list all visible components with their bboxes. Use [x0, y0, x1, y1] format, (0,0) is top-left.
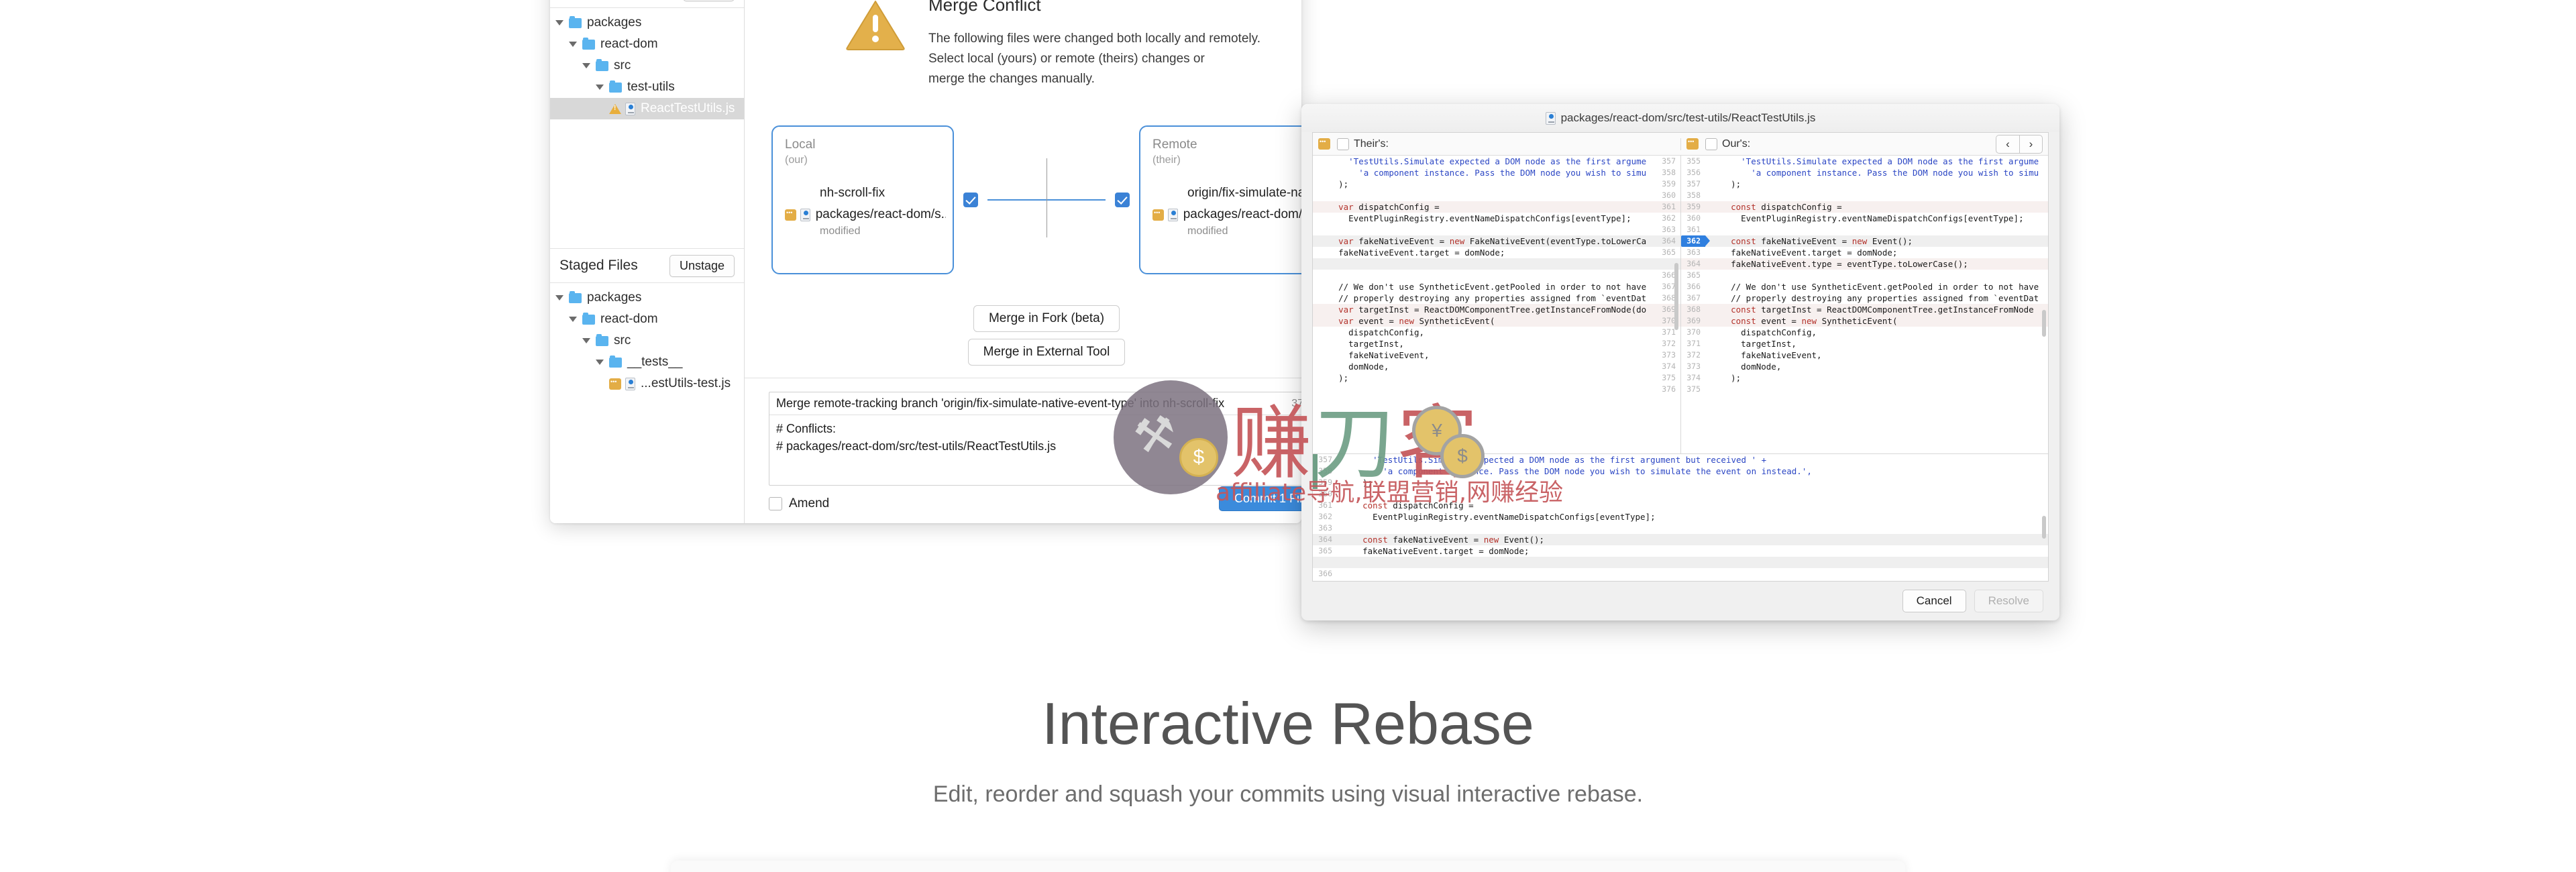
code-text: const targetInst = ReactDOMComponentTree… [1705, 304, 2048, 315]
remote-file-status: modified [1187, 225, 1301, 237]
merged-result-code: 357 'TestUtils.Simulate expected a DOM n… [1313, 454, 2048, 580]
folder-icon [582, 315, 595, 325]
code-line[interactable]: 359 ); [1313, 477, 2048, 488]
folder-icon [596, 61, 608, 71]
code-text: // properly destroying any properties as… [1705, 292, 2048, 304]
code-text: EventPluginRegistry.eventNameDispatchCon… [1337, 511, 2048, 523]
file-tree-row[interactable]: ReactTestUtils.js [550, 98, 744, 119]
line-number: 359 [1656, 178, 1680, 190]
code-text [1313, 224, 1656, 235]
file-tree-label: react-dom [600, 37, 658, 52]
code-line[interactable]: 373 fakeNativeEvent, [1313, 349, 1680, 361]
line-number: 373 [1681, 361, 1705, 372]
file-tree-label: src [614, 333, 631, 348]
conflict-desc-line1: The following files were changed both lo… [928, 29, 1260, 49]
line-number: 361 [1656, 201, 1680, 213]
file-tree-row[interactable]: test-utils [550, 76, 744, 98]
js-file-icon [625, 378, 635, 390]
conflict-title: Merge Conflict [928, 0, 1260, 15]
merge-editor-subbar: Their's: Our's: ‹ › [1313, 133, 2048, 156]
code-text [1705, 270, 2048, 281]
chevron-down-icon[interactable] [596, 85, 604, 90]
code-line[interactable]: 369 const event = new SyntheticEvent( [1681, 315, 2048, 327]
code-text [1313, 270, 1656, 281]
chunk-icon [1318, 138, 1330, 150]
screenshot-stage: Unstaged Files Stage packagesreact-domsr… [0, 0, 2576, 872]
ours-code-pane[interactable]: 355 'TestUtils.Simulate expected a DOM n… [1680, 156, 2048, 453]
file-tree-row[interactable]: packages [550, 287, 744, 309]
line-number [1313, 557, 1337, 568]
code-text: ); [1705, 372, 2048, 384]
file-tree-row[interactable]: ...estUtils-test.js [550, 373, 744, 394]
code-line[interactable]: 357 'TestUtils.Simulate expected a DOM n… [1313, 156, 1680, 167]
code-line[interactable]: 358 [1681, 190, 2048, 201]
connector-line-left [987, 199, 1046, 201]
ours-header: Our's: [1680, 138, 2048, 150]
cancel-button[interactable]: Cancel [1902, 590, 1966, 612]
code-text: 'a component instance. Pass the DOM node… [1313, 167, 1656, 178]
code-line[interactable] [1313, 258, 1680, 270]
code-line[interactable]: 360 [1313, 488, 2048, 500]
theirs-checkbox[interactable] [1337, 138, 1349, 150]
merge-editor-panes: 357 'TestUtils.Simulate expected a DOM n… [1313, 156, 2048, 453]
line-number: 365 [1313, 545, 1337, 557]
code-line[interactable]: 364 const fakeNativeEvent = new Event(); [1313, 534, 2048, 545]
code-line[interactable]: 355 'TestUtils.Simulate expected a DOM n… [1681, 156, 2048, 167]
chunk-icon [1686, 138, 1699, 150]
line-number: 366 [1681, 281, 1705, 292]
code-text: fakeNativeEvent, [1313, 349, 1656, 361]
code-text: var event = new SyntheticEvent( [1313, 315, 1656, 327]
resolve-button: Resolve [1974, 590, 2043, 612]
ours-label: Our's: [1722, 138, 1750, 150]
code-text: fakeNativeEvent.target = domNode; [1337, 545, 2048, 557]
commit-message-box[interactable]: Merge remote-tracking branch 'origin/fix… [769, 392, 1301, 486]
local-branch-card: Local (our) nh-scroll-fix packages/react… [771, 125, 954, 274]
commit-subject-text: Merge remote-tracking branch 'origin/fix… [776, 396, 1224, 411]
code-text: fakeNativeEvent.target = domNode; [1313, 247, 1656, 258]
line-number: 361 [1681, 224, 1705, 235]
code-line[interactable]: 366 [1313, 568, 2048, 580]
line-number: 373 [1656, 349, 1680, 361]
code-line[interactable]: 372 targetInst, [1313, 338, 1680, 349]
file-tree-label: __tests__ [627, 355, 682, 370]
commit-button[interactable]: Commit 1 File [1219, 486, 1301, 511]
conflict-header: Merge Conflict The following files were … [771, 0, 1301, 89]
line-number: 358 [1681, 190, 1705, 201]
unstaged-files-header: Unstaged Files Stage [550, 0, 744, 8]
line-number: 364 [1656, 235, 1680, 247]
unstage-button[interactable]: Unstage [669, 255, 735, 277]
next-conflict-button[interactable]: › [2019, 135, 2042, 153]
remote-branch-card: Remote (their) origin/fix-simulate-na...… [1139, 125, 1301, 274]
remote-branch-name: origin/fix-simulate-na... [1187, 186, 1301, 201]
code-text: 'TestUtils.Simulate expected a DOM node … [1313, 156, 1656, 167]
file-tree-label: packages [587, 290, 641, 305]
chevron-down-icon[interactable] [555, 20, 563, 25]
ours-code: 355 'TestUtils.Simulate expected a DOM n… [1681, 156, 2048, 395]
theirs-header: Their's: [1313, 138, 1680, 150]
folder-icon [569, 18, 582, 28]
code-text: var targetInst = ReactDOMComponentTree.g… [1313, 304, 1656, 315]
code-text: ); [1705, 178, 2048, 190]
theirs-label: Their's: [1354, 138, 1389, 150]
merge-in-fork-button[interactable]: Merge in Fork (beta) [973, 305, 1120, 332]
prev-conflict-button[interactable]: ‹ [1996, 135, 2019, 153]
code-line[interactable] [1313, 557, 2048, 568]
code-text [1337, 488, 2048, 500]
merge-editor-body: Their's: Our's: ‹ › 357 'Te [1312, 132, 2049, 582]
line-number: 357 [1656, 156, 1680, 167]
line-number: 357 [1681, 178, 1705, 190]
bottom-partial-window [671, 861, 1905, 872]
merge-in-external-tool-button[interactable]: Merge in External Tool [968, 339, 1126, 366]
code-line[interactable]: 367 // We don't use SyntheticEvent.getPo… [1313, 281, 1680, 292]
chunk-icon [609, 378, 621, 390]
line-number: 355 [1681, 156, 1705, 167]
code-line[interactable]: 364 fakeNativeEvent.type = eventType.toL… [1681, 258, 2048, 270]
code-line[interactable]: 358 'a component instance. Pass the DOM … [1313, 167, 1680, 178]
code-line[interactable]: 365 fakeNativeEvent.target = domNode; [1313, 247, 1680, 258]
line-number: 375 [1681, 384, 1705, 395]
commit-subject-count: 37 [1291, 398, 1301, 410]
code-text: // properly destroying any properties as… [1313, 292, 1656, 304]
file-tree-label: packages [587, 15, 641, 30]
commit-body-line2: # packages/react-dom/src/test-utils/Reac… [776, 437, 1301, 455]
line-number: 369 [1681, 315, 1705, 327]
code-line[interactable]: 360 EventPluginRegistry.eventNameDispatc… [1681, 213, 2048, 224]
js-file-icon [800, 209, 810, 221]
chevron-down-icon[interactable] [569, 317, 577, 322]
file-tree-row[interactable]: src [550, 330, 744, 351]
local-card-label: Local [785, 138, 941, 153]
code-line[interactable]: 356 'a component instance. Pass the DOM … [1681, 167, 2048, 178]
warning-icon [609, 103, 621, 114]
folder-icon [609, 83, 622, 93]
line-number: 363 [1313, 523, 1337, 534]
chevron-down-icon[interactable] [582, 338, 590, 343]
code-text [1337, 557, 2048, 568]
line-number: 371 [1681, 338, 1705, 349]
line-number: 359 [1681, 201, 1705, 213]
commit-area: Merge remote-tracking branch 'origin/fix… [745, 378, 1301, 523]
code-text: const dispatchConfig = [1705, 201, 2048, 213]
stage-button[interactable]: Stage [683, 0, 735, 1]
local-file-path: packages/react-dom/s... [816, 207, 946, 222]
merged-result-pane[interactable]: 357 'TestUtils.Simulate expected a DOM n… [1313, 453, 2048, 581]
resolved-marker-bar [1313, 454, 1318, 489]
code-line[interactable]: 363 [1313, 523, 2048, 534]
code-line[interactable]: 368 const targetInst = ReactDOMComponent… [1681, 304, 2048, 315]
folder-icon [569, 293, 582, 303]
chevron-down-icon[interactable] [569, 42, 577, 47]
code-text [1313, 190, 1656, 201]
line-number: 363 [1681, 247, 1705, 258]
line-number: 368 [1681, 304, 1705, 315]
remote-card-label: Remote [1152, 138, 1301, 153]
code-text: ); [1337, 477, 2048, 488]
hero-title: Interactive Rebase [0, 694, 2576, 753]
code-text: // We don't use SyntheticEvent.getPooled… [1705, 281, 2048, 292]
line-number: 362 [1313, 511, 1337, 523]
code-text [1705, 384, 2048, 395]
code-line[interactable]: 373 domNode, [1681, 361, 2048, 372]
code-line[interactable]: 361 [1681, 224, 2048, 235]
connector-line-right [1046, 199, 1106, 201]
code-text: dispatchConfig, [1313, 327, 1656, 338]
code-text: const event = new SyntheticEvent( [1705, 315, 2048, 327]
line-number: 356 [1681, 167, 1705, 178]
code-line[interactable]: 362 EventPluginRegistry.eventNameDispatc… [1313, 213, 1680, 224]
warning-triangle-icon [845, 0, 906, 51]
remote-file-row: packages/react-dom/s... [1152, 207, 1301, 222]
code-text [1705, 224, 2048, 235]
line-number: 362 [1656, 213, 1680, 224]
code-text: fakeNativeEvent.type = eventType.toLower… [1705, 258, 2048, 270]
code-text [1313, 384, 1656, 395]
code-text: 'a component instance. Pass the DOM node… [1337, 466, 2048, 477]
code-text: domNode, [1313, 361, 1656, 372]
theirs-scrollbar-thumb[interactable] [1674, 263, 1678, 330]
file-tree-row[interactable]: src [550, 55, 744, 76]
code-text: // We don't use SyntheticEvent.getPooled… [1313, 281, 1656, 292]
code-text: targetInst, [1313, 338, 1656, 349]
code-text: targetInst, [1705, 338, 2048, 349]
code-line[interactable]: 364 var fakeNativeEvent = new FakeNative… [1313, 235, 1680, 247]
code-text: var fakeNativeEvent = new FakeNativeEven… [1313, 235, 1656, 247]
code-text: fakeNativeEvent.target = domNode; [1705, 247, 2048, 258]
code-line[interactable]: 376 [1313, 384, 1680, 395]
conflict-text-block: Merge Conflict The following files were … [928, 0, 1260, 89]
code-line[interactable]: 365 fakeNativeEvent.target = domNode; [1313, 545, 2048, 557]
merge-action-buttons: Merge in Fork (beta) Merge in External T… [771, 305, 1301, 366]
code-line[interactable]: 359 ); [1313, 178, 1680, 190]
code-text: EventPluginRegistry.eventNameDispatchCon… [1705, 213, 2048, 224]
amend-label: Amend [789, 496, 829, 511]
js-file-icon [625, 103, 635, 115]
code-line[interactable]: 370 dispatchConfig, [1681, 327, 2048, 338]
branch-comparison-row: Local (our) nh-scroll-fix packages/react… [771, 125, 1301, 274]
commit-body[interactable]: # Conflicts: # packages/react-dom/src/te… [769, 415, 1301, 459]
code-line[interactable]: 370 var event = new SyntheticEvent( [1313, 315, 1680, 327]
result-scrollbar-thumb[interactable] [2042, 516, 2046, 539]
conflict-description: The following files were changed both lo… [928, 29, 1260, 89]
line-number: 364 [1681, 258, 1705, 270]
file-tree-row[interactable]: __tests__ [550, 351, 744, 373]
local-branch-name: nh-scroll-fix [820, 186, 946, 201]
files-sidebar: Unstaged Files Stage packagesreact-domsr… [550, 0, 745, 523]
remote-select-checkbox[interactable] [1115, 193, 1130, 207]
folder-icon [582, 40, 595, 50]
theirs-code-pane[interactable]: 357 'TestUtils.Simulate expected a DOM n… [1313, 156, 1680, 453]
code-line[interactable]: 361 const dispatchConfig = [1313, 500, 2048, 511]
line-number: 376 [1656, 384, 1680, 395]
staged-files-title: Staged Files [559, 258, 638, 274]
line-number: 362 [1681, 235, 1705, 247]
code-text: fakeNativeEvent, [1705, 349, 2048, 361]
file-tree-label: test-utils [627, 80, 675, 95]
js-file-icon [1168, 209, 1177, 221]
line-number: 366 [1313, 568, 1337, 580]
fork-main-window: Unstaged Files Stage packagesreact-domsr… [550, 0, 1301, 523]
line-number: 374 [1656, 361, 1680, 372]
file-tree-label: react-dom [600, 312, 658, 327]
merge-conflict-area: Merge Conflict The following files were … [745, 0, 1301, 378]
merge-editor-file-path: packages/react-dom/src/test-utils/ReactT… [1561, 111, 1816, 125]
conflict-desc-line3: merge the changes manually. [928, 69, 1260, 89]
code-line[interactable]: 374 domNode, [1313, 361, 1680, 372]
chevron-down-icon[interactable] [555, 295, 563, 301]
line-number: 365 [1656, 247, 1680, 258]
code-line[interactable]: 366 [1313, 270, 1680, 281]
commit-body-line1: # Conflicts: [776, 420, 1301, 437]
hero-subtitle: Edit, reorder and squash your commits us… [0, 781, 2576, 808]
chunk-icon [1152, 209, 1164, 221]
line-number: 361 [1313, 500, 1337, 511]
ours-label-group[interactable]: Our's: [1703, 138, 1750, 150]
staged-file-tree[interactable]: packagesreact-domsrc__tests__...estUtils… [550, 283, 744, 523]
code-line[interactable]: 359 const dispatchConfig = [1681, 201, 2048, 213]
conflict-desc-line2: Select local (yours) or remote (theirs) … [928, 49, 1260, 69]
code-line[interactable]: 362 EventPluginRegistry.eventNameDispatc… [1313, 511, 2048, 523]
code-text: ); [1313, 372, 1656, 384]
file-tree-label: ReactTestUtils.js [641, 101, 735, 116]
line-number: 370 [1681, 327, 1705, 338]
code-text [1337, 568, 2048, 580]
line-number: 375 [1656, 372, 1680, 384]
code-text: 'TestUtils.Simulate expected a DOM node … [1337, 454, 2048, 466]
conflict-navigation-buttons: ‹ › [1996, 135, 2043, 154]
code-line[interactable]: 372 fakeNativeEvent, [1681, 349, 2048, 361]
code-line[interactable]: 371 dispatchConfig, [1313, 327, 1680, 338]
line-number: 360 [1656, 190, 1680, 201]
file-tree-label: ...estUtils-test.js [641, 376, 731, 391]
code-text [1313, 258, 1656, 270]
code-text: ); [1313, 178, 1656, 190]
code-text [1337, 523, 2048, 534]
file-tree-row[interactable]: react-dom [550, 309, 744, 330]
connector-vertical-line [1046, 158, 1047, 237]
remote-file-path: packages/react-dom/s... [1183, 207, 1301, 222]
staged-files-header: Staged Files Unstage [550, 248, 744, 283]
code-text: dispatchConfig, [1705, 327, 2048, 338]
remote-card-info: origin/fix-simulate-na... packages/react… [1152, 186, 1301, 237]
code-line[interactable]: 363 [1313, 224, 1680, 235]
local-select-checkbox[interactable] [963, 193, 978, 207]
folder-icon [609, 358, 622, 368]
unstaged-file-tree[interactable]: packagesreact-domsrctest-utilsReactTestU… [550, 8, 744, 248]
code-line[interactable]: 360 [1313, 190, 1680, 201]
code-line[interactable]: 374 ); [1681, 372, 2048, 384]
line-number: 367 [1681, 292, 1705, 304]
line-number: 360 [1681, 213, 1705, 224]
line-number: 374 [1681, 372, 1705, 384]
local-file-status: modified [820, 225, 946, 237]
merge-editor-footer: Cancel Resolve [1301, 582, 2059, 620]
js-file-icon [1546, 112, 1556, 125]
code-line[interactable]: 361 var dispatchConfig = [1313, 201, 1680, 213]
code-line[interactable]: 368 // properly destroying any propertie… [1313, 292, 1680, 304]
file-tree-row[interactable]: packages [550, 12, 744, 34]
remote-card-sublabel: (their) [1152, 154, 1301, 166]
code-text: 'TestUtils.Simulate expected a DOM node … [1705, 156, 2048, 167]
amend-checkbox[interactable] [769, 497, 782, 510]
ours-checkbox[interactable] [1705, 138, 1717, 150]
local-file-row: packages/react-dom/s... [785, 207, 946, 222]
code-line[interactable]: 375 ); [1313, 372, 1680, 384]
code-line[interactable]: 358 'a component instance. Pass the DOM … [1313, 466, 2048, 477]
code-text [1705, 190, 2048, 201]
line-number: 360 [1313, 488, 1337, 500]
code-text: domNode, [1705, 361, 2048, 372]
code-line[interactable]: 362 const fakeNativeEvent = new Event(); [1681, 235, 2048, 247]
code-line[interactable]: 366 // We don't use SyntheticEvent.getPo… [1681, 281, 2048, 292]
local-card-sublabel: (our) [785, 154, 941, 166]
line-number: 358 [1656, 167, 1680, 178]
code-line[interactable]: 357 ); [1681, 178, 2048, 190]
file-tree-label: src [614, 58, 631, 73]
merge-editor-window: packages/react-dom/src/test-utils/ReactT… [1301, 104, 2059, 620]
code-text: var dispatchConfig = [1313, 201, 1656, 213]
code-line[interactable]: 365 [1681, 270, 2048, 281]
ours-scrollbar-thumb[interactable] [2042, 310, 2046, 337]
chevron-down-icon[interactable] [596, 360, 604, 365]
code-text: const dispatchConfig = [1337, 500, 2048, 511]
conflict-main-panel: Merge Conflict The following files were … [745, 0, 1301, 523]
code-line[interactable]: 357 'TestUtils.Simulate expected a DOM n… [1313, 454, 2048, 466]
merge-editor-titlebar: packages/react-dom/src/test-utils/ReactT… [1301, 104, 2059, 132]
line-number: 372 [1681, 349, 1705, 361]
chunk-icon [785, 209, 796, 221]
code-text: const fakeNativeEvent = new Event(); [1337, 534, 2048, 545]
code-text: 'a component instance. Pass the DOM node… [1705, 167, 2048, 178]
theirs-code: 357 'TestUtils.Simulate expected a DOM n… [1313, 156, 1680, 395]
chevron-down-icon[interactable] [582, 63, 590, 68]
code-line[interactable]: 375 [1681, 384, 2048, 395]
code-line[interactable]: 371 targetInst, [1681, 338, 2048, 349]
folder-icon [596, 336, 608, 346]
hero-section: Interactive Rebase Edit, reorder and squ… [0, 694, 2576, 808]
line-number: 365 [1681, 270, 1705, 281]
theirs-label-group[interactable]: Their's: [1334, 138, 1389, 150]
code-text: const fakeNativeEvent = new Event(); [1705, 235, 2048, 247]
code-text: EventPluginRegistry.eventNameDispatchCon… [1313, 213, 1656, 224]
line-number: 363 [1656, 224, 1680, 235]
local-card-info: nh-scroll-fix packages/react-dom/s... mo… [785, 186, 946, 237]
commit-subject-row[interactable]: Merge remote-tracking branch 'origin/fix… [769, 392, 1301, 415]
code-line[interactable]: 367 // properly destroying any propertie… [1681, 292, 2048, 304]
line-number: 364 [1313, 534, 1337, 545]
code-line[interactable]: 363 fakeNativeEvent.target = domNode; [1681, 247, 2048, 258]
line-number: 372 [1656, 338, 1680, 349]
code-line[interactable]: 369 var targetInst = ReactDOMComponentTr… [1313, 304, 1680, 315]
file-tree-row[interactable]: react-dom [550, 34, 744, 55]
